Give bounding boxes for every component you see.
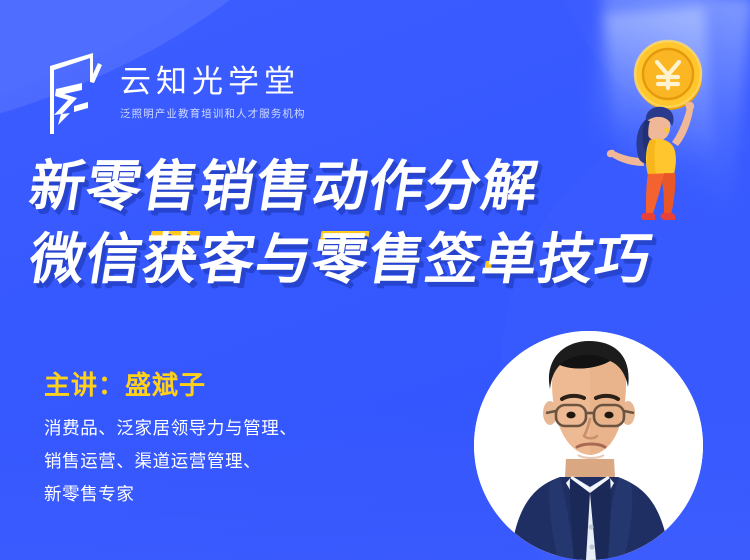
brand-tagline: 泛照明产业教育培训和人才服务机构 [120, 106, 306, 121]
headline-char: 巧 [589, 223, 657, 296]
brand-name: 云知光学堂 [120, 66, 306, 99]
headline-line-1: 新零售销售动作分解 [24, 150, 736, 223]
speaker-name: 主讲：盛斌子 [44, 368, 444, 402]
speaker-credential-line: 销售运营、渠道运营管理、 [44, 445, 444, 478]
headline-char: 解 [476, 150, 544, 223]
course-poster: 云知光学堂 泛照明产业教育培训和人才服务机构 [0, 0, 750, 560]
speaker-info: 主讲：盛斌子 消费品、泛家居领导力与管理、 销售运营、渠道运营管理、 新零售专家 [44, 368, 444, 511]
poster-headline: 新零售销售动作分解 微信获客与零售签单技巧 [30, 150, 730, 296]
brand-logo: 云知光学堂 泛照明产业教育培训和人才服务机构 [44, 52, 306, 136]
speaker-portrait [474, 331, 703, 560]
speaker-credential-line: 消费品、泛家居领导力与管理、 [44, 412, 444, 445]
speaker-credential-line: 新零售专家 [44, 478, 444, 511]
yunzhiguang-logo-mark [44, 52, 106, 136]
headline-line-2: 微信获客与零售签单技巧 [24, 223, 736, 296]
